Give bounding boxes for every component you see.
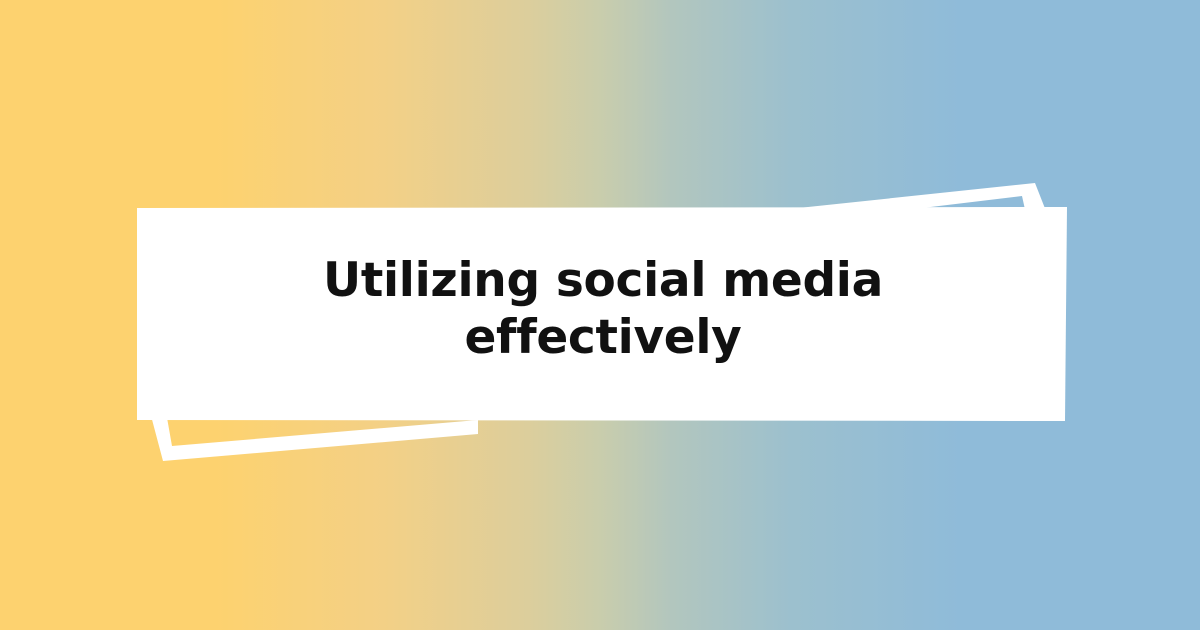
page-title-line-1: Utilizing social media bbox=[170, 252, 1036, 309]
page-title-line-2: effectively bbox=[170, 309, 1036, 366]
page-title: Utilizing social media effectively bbox=[170, 252, 1036, 366]
social-share-banner: Utilizing social media effectively bbox=[0, 0, 1200, 630]
